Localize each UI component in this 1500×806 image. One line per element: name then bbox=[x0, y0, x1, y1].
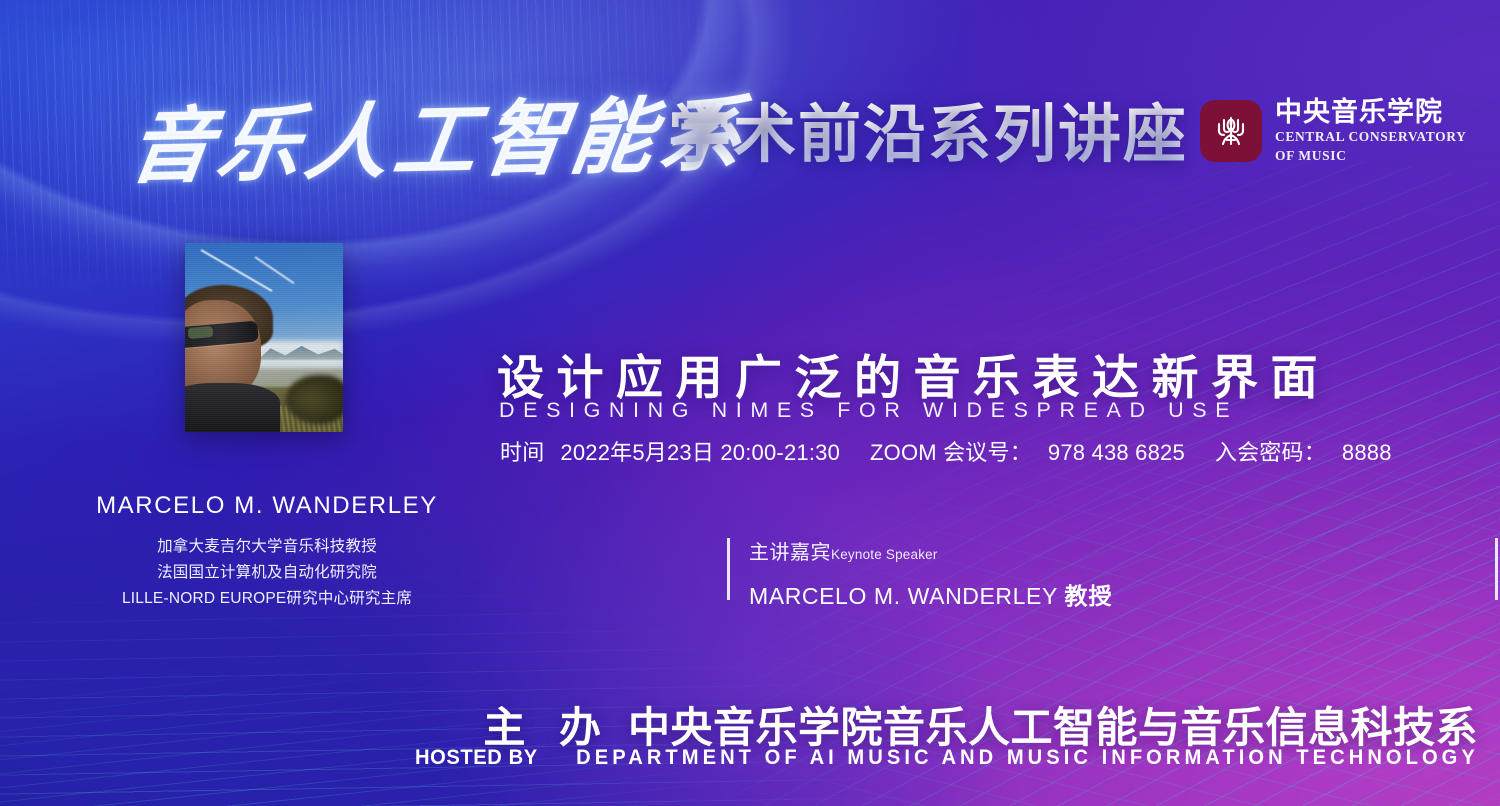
lecture-meta-line: 时间2022年5月23日 20:00-21:30ZOOM 会议号：978 438… bbox=[500, 435, 1392, 467]
time-value: 2022年5月23日 20:00-21:30 bbox=[560, 440, 840, 465]
conservatory-emblem-icon bbox=[1200, 100, 1262, 162]
credit-divider-bar bbox=[727, 538, 730, 600]
conservatory-logo: 中央音乐学院 CENTRAL CONSERVATORY OF MUSIC bbox=[1200, 98, 1466, 164]
department-calligraphy-title: 音乐人工智能系 bbox=[123, 68, 757, 200]
zoom-label: ZOOM 会议号： bbox=[870, 440, 1032, 465]
footer-host-en: HOSTED BYDEPARTMENT OF AI MUSIC AND MUSI… bbox=[60, 746, 1500, 770]
credit-keynote-speaker: 主讲嘉宾Keynote Speaker MARCELO M. WANDERLEY… bbox=[727, 536, 1113, 611]
lecture-poster: 音乐人工智能系 学术前沿系列讲座 bbox=[0, 0, 1500, 806]
password-value: 8888 bbox=[1342, 440, 1392, 465]
credit-role-cn: 主讲嘉宾 bbox=[749, 542, 831, 564]
credit-person-title: 教授 bbox=[1065, 583, 1113, 609]
credit-divider-bar bbox=[1495, 538, 1498, 600]
lecture-title-en: DESIGNING NIMES FOR WIDESPREAD USE bbox=[499, 398, 1238, 423]
credits-row: 主讲嘉宾Keynote Speaker MARCELO M. WANDERLEY… bbox=[727, 536, 1500, 611]
credit-person: MARCELO M. WANDERLEY 教授 bbox=[749, 577, 1113, 611]
footer-host-org-cn: 中央音乐学院音乐人工智能与音乐信息科技系 bbox=[628, 704, 1478, 751]
logo-name-en-line1: CENTRAL CONSERVATORY bbox=[1275, 129, 1466, 145]
footer-host-org-en: DEPARTMENT OF AI MUSIC AND MUSIC INFORMA… bbox=[576, 746, 1479, 769]
credit-role: 主讲嘉宾Keynote Speaker bbox=[749, 536, 1113, 565]
logo-name-en-line2: OF MUSIC bbox=[1275, 148, 1466, 164]
photo-grain bbox=[185, 243, 343, 432]
credit-host: 主持人Host 李小兵 教授 bbox=[1495, 536, 1500, 611]
credit-role-en: Keynote Speaker bbox=[831, 547, 938, 562]
credential-line: 加拿大麦吉尔大学音乐科技教授 bbox=[0, 534, 534, 560]
poster-header: 音乐人工智能系 学术前沿系列讲座 bbox=[0, 78, 1500, 182]
series-title: 学术前沿系列讲座 bbox=[668, 84, 1188, 175]
footer-hosted-label-en: HOSTED BY bbox=[415, 746, 538, 769]
credit-person-latin: MARCELO M. WANDERLEY bbox=[749, 583, 1065, 609]
speaker-photo bbox=[185, 243, 343, 432]
credential-line: 法国国立计算机及自动化研究院 bbox=[0, 560, 534, 586]
credential-line: LILLE-NORD EUROPE研究中心研究主席 bbox=[0, 586, 534, 612]
speaker-credentials: 加拿大麦吉尔大学音乐科技教授 法国国立计算机及自动化研究院 LILLE-NORD… bbox=[0, 534, 534, 612]
logo-name-cn: 中央音乐学院 bbox=[1275, 98, 1466, 127]
zoom-meeting-id: 978 438 6825 bbox=[1048, 440, 1185, 465]
speaker-name: MARCELO M. WANDERLEY bbox=[0, 492, 534, 520]
footer-hosted-label-cn: 主 办 bbox=[483, 704, 612, 751]
time-label: 时间 bbox=[500, 440, 544, 465]
password-label: 入会密码： bbox=[1215, 440, 1326, 465]
logo-wordmark: 中央音乐学院 CENTRAL CONSERVATORY OF MUSIC bbox=[1275, 98, 1466, 164]
